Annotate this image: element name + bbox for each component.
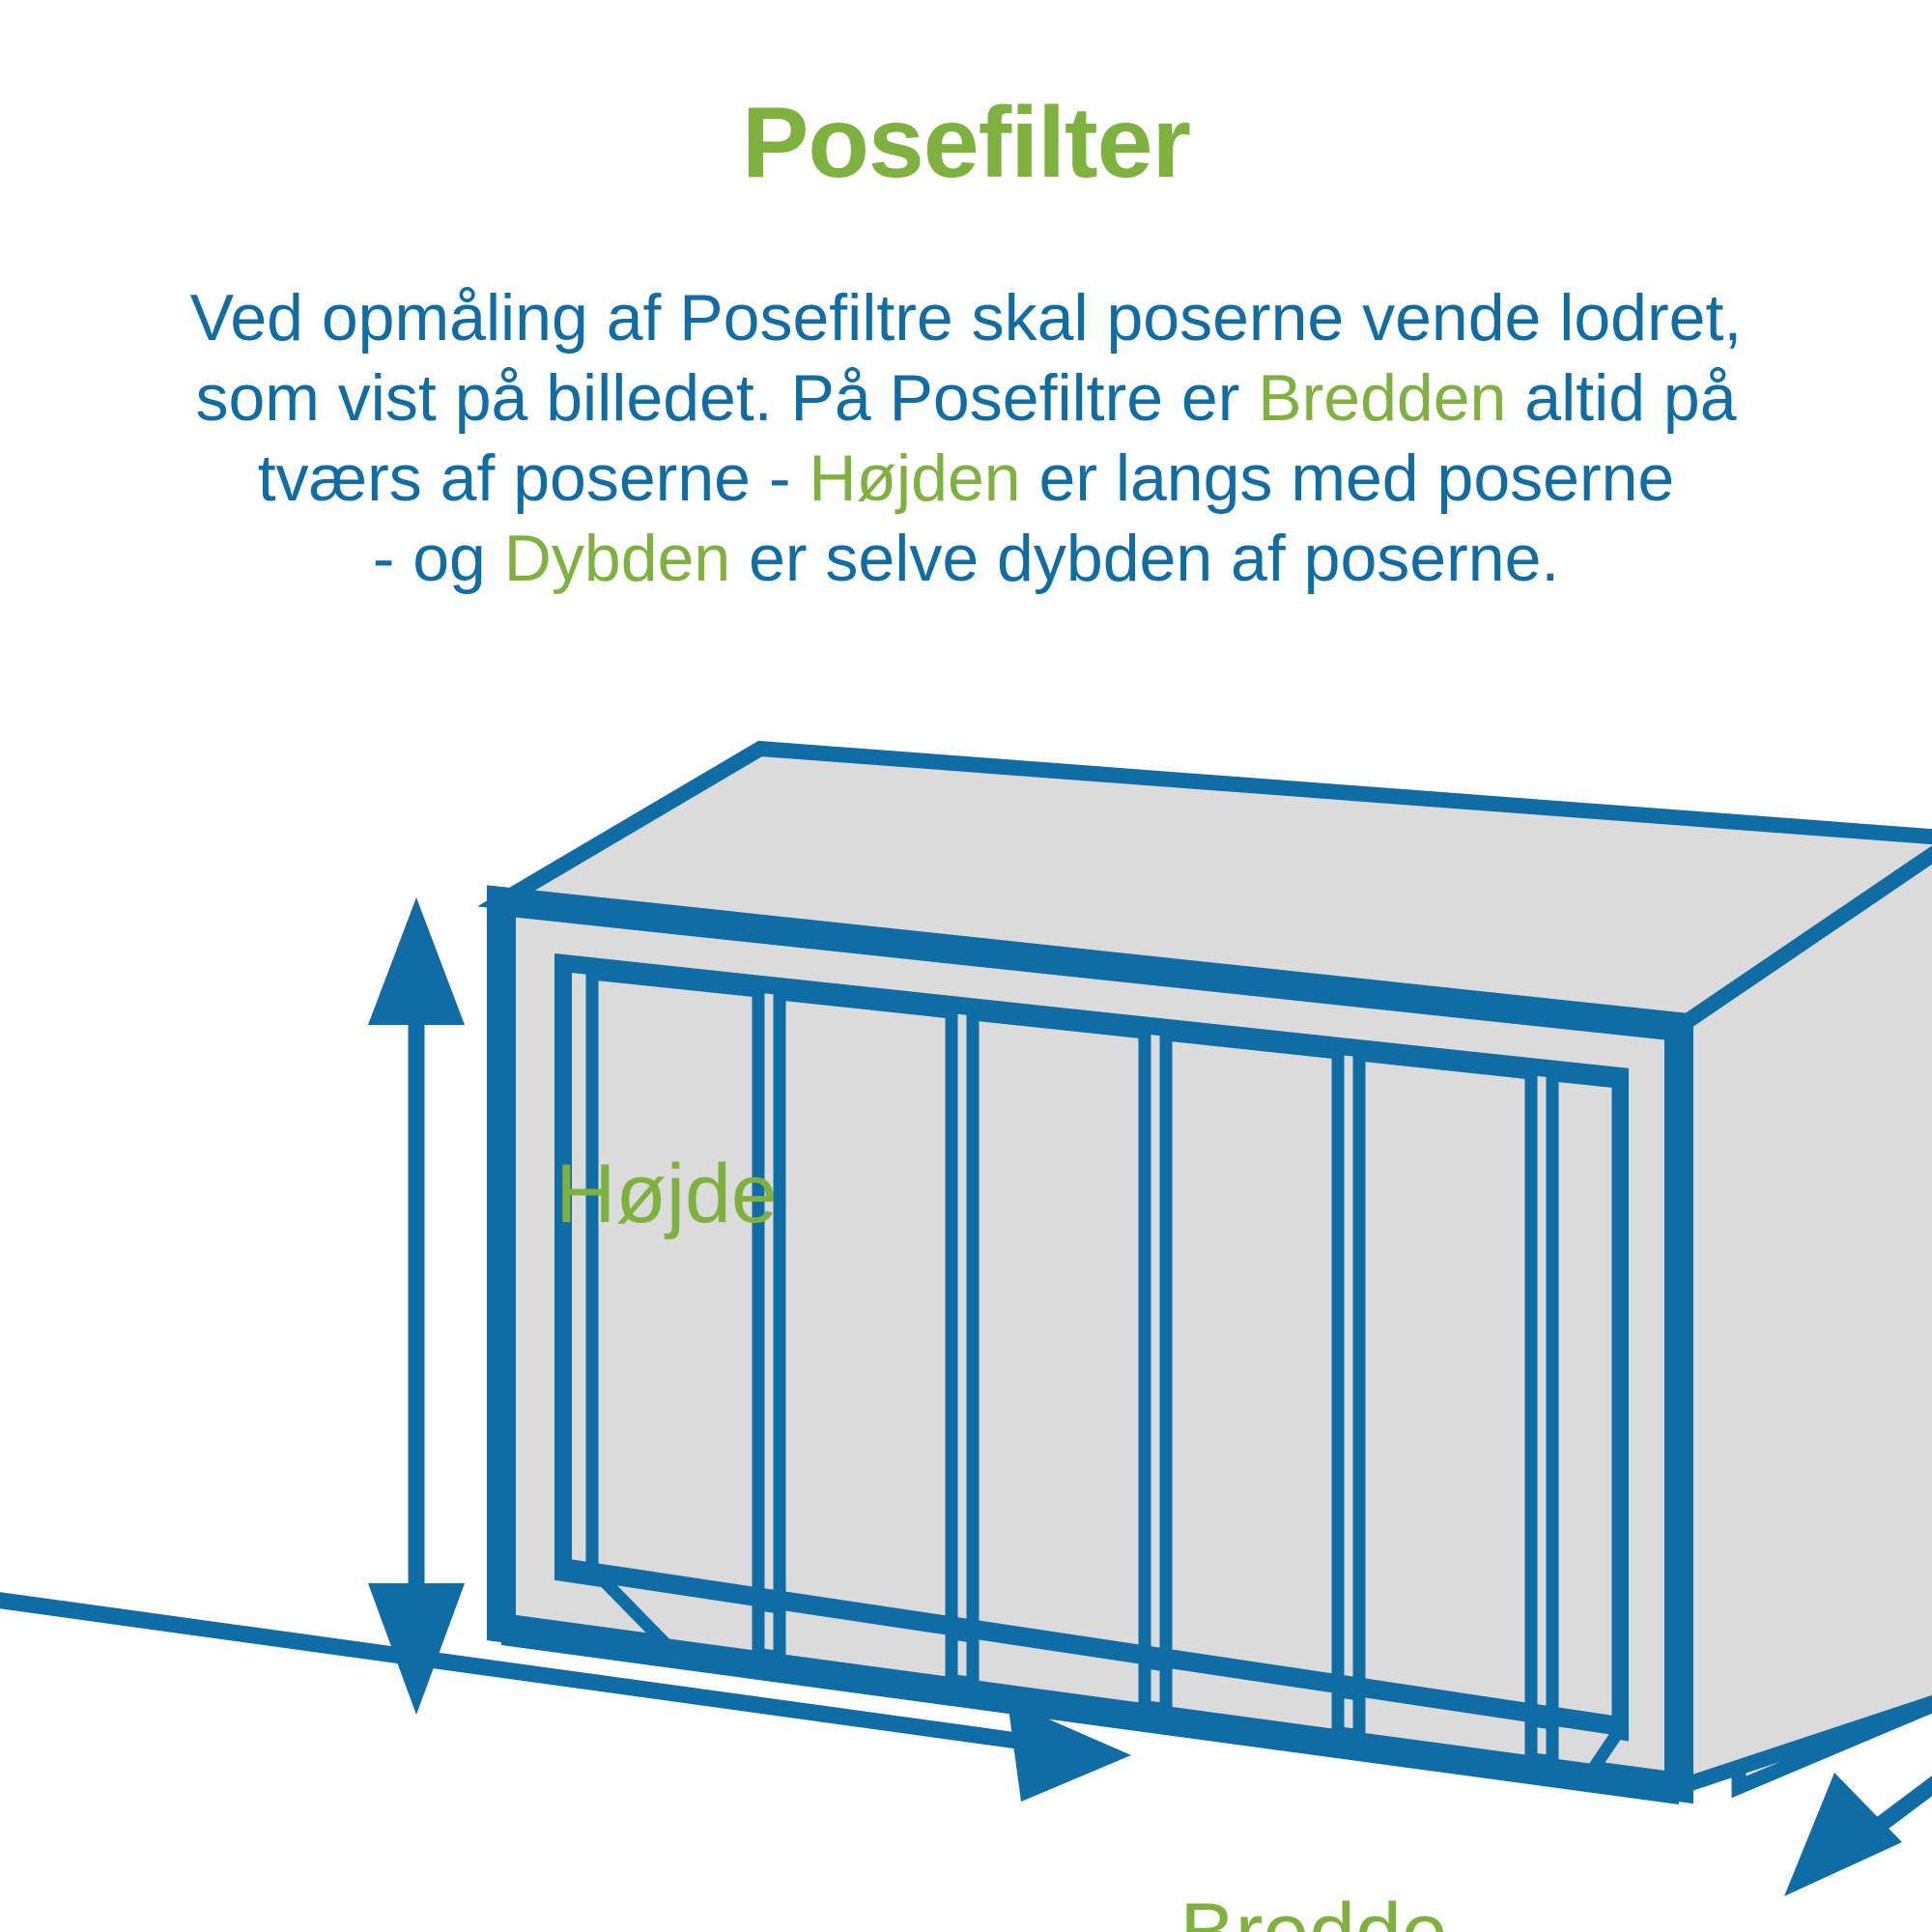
intro-highlight-hojden: Højden [809,441,1020,515]
intro-line-3-a: tværs af poserne - [258,441,810,515]
intro-highlight-dybden: Dybden [504,522,730,595]
page-title: Posefilter [0,93,1932,193]
intro-highlight-bredden: Bredden [1258,361,1506,435]
height-arrow [368,897,465,1715]
poster-canvas: Posefilter Ved opmåling af Posefiltre sk… [0,0,1932,1932]
label-hojde: Højde [555,1148,777,1240]
intro-line-3-b: er langs med poserne [1021,441,1675,515]
intro-line-4-a: - og [373,522,504,595]
intro-line-2-b: altid på [1506,361,1736,435]
intro-line-1: Ved opmåling af Posefiltre skal poserne … [190,281,1743,355]
label-bredde: Bredde [1179,1887,1447,1932]
intro-paragraph: Ved opmåling af Posefiltre skal poserne … [87,278,1845,599]
bag-filter-diagram: HøjdeBreddeDybde [0,676,1932,1932]
intro-line-2-a: som vist på billedet. På Posefiltre er [195,361,1258,435]
intro-line-4-b: er selve dybden af poserne. [730,522,1559,595]
